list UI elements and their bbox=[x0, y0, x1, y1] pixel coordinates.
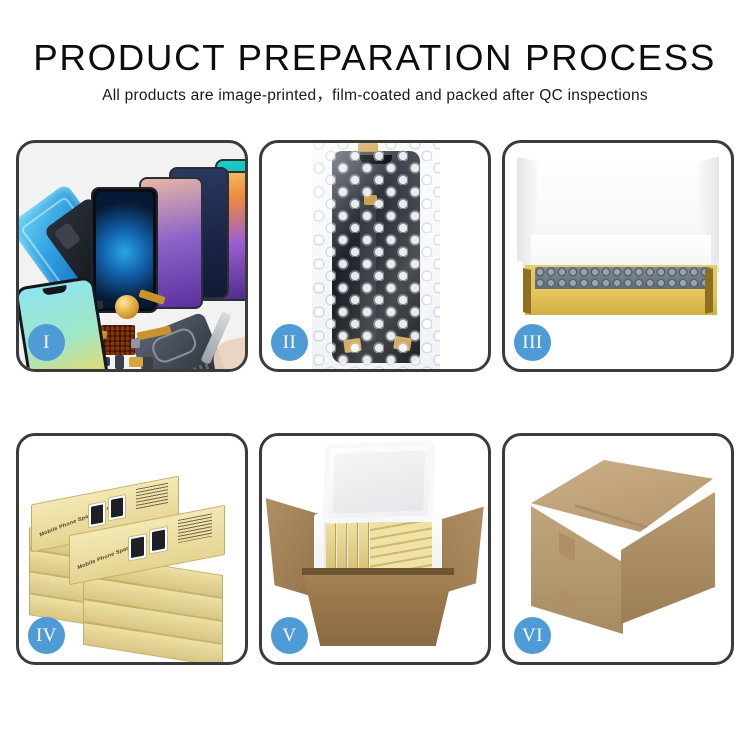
yellow-box-upright-1 bbox=[326, 522, 336, 574]
process-step-3[interactable]: III bbox=[502, 140, 734, 372]
step-3-frame: III bbox=[502, 140, 734, 372]
step-5-frame: V bbox=[259, 433, 491, 665]
retail-box-window-front-2 bbox=[149, 526, 168, 555]
carton-rim bbox=[302, 568, 454, 575]
process-step-grid: I II bbox=[16, 140, 734, 696]
header: PRODUCT PREPARATION PROCESS All products… bbox=[0, 0, 750, 118]
step-badge-6: VI bbox=[514, 617, 551, 654]
step-badge-2: II bbox=[271, 324, 308, 361]
carton-front-face bbox=[531, 506, 623, 634]
retail-box-window-front-1 bbox=[128, 533, 147, 562]
small-part-4 bbox=[129, 357, 143, 367]
step-badge-1: I bbox=[28, 324, 65, 361]
styrofoam-lid bbox=[322, 440, 435, 524]
yellow-box-front-panel bbox=[525, 289, 717, 315]
chip-array-part bbox=[101, 325, 135, 355]
process-step-4[interactable]: Mobile Phone Spare Parts Mobile Phone Sp… bbox=[16, 433, 248, 665]
yellow-box-upright-4 bbox=[359, 522, 369, 574]
step-badge-4: IV bbox=[28, 617, 65, 654]
step-1-frame: I bbox=[16, 140, 248, 372]
yellow-box-upright-2 bbox=[337, 522, 347, 574]
yellow-box-upright-3 bbox=[348, 522, 358, 574]
step-4-frame: Mobile Phone Spare Parts Mobile Phone Sp… bbox=[16, 433, 248, 665]
step-badge-5: V bbox=[271, 617, 308, 654]
product-preparation-infographic: PRODUCT PREPARATION PROCESS All products… bbox=[0, 0, 750, 750]
small-part-8 bbox=[143, 357, 153, 369]
small-part-3 bbox=[115, 355, 124, 369]
plastic-sheen-overlay bbox=[312, 143, 440, 369]
process-step-2[interactable]: II bbox=[259, 140, 491, 372]
process-step-1[interactable]: I bbox=[16, 140, 248, 372]
speaker-coil-part bbox=[115, 295, 139, 319]
yellow-boxes-stacked-flat bbox=[370, 522, 432, 574]
step-badge-3: III bbox=[514, 324, 551, 361]
yellow-box-edge-right bbox=[705, 268, 713, 314]
step-6-frame: VI bbox=[502, 433, 734, 665]
page-title: PRODUCT PREPARATION PROCESS bbox=[34, 38, 717, 78]
small-part-7 bbox=[131, 339, 140, 348]
process-step-6[interactable]: VI bbox=[502, 433, 734, 665]
process-step-5[interactable]: V bbox=[259, 433, 491, 665]
shipping-carton-body bbox=[302, 570, 454, 646]
retail-box-window-rear-2 bbox=[108, 494, 126, 521]
page-subtitle: All products are image-printed，film-coat… bbox=[102, 87, 648, 105]
step-2-frame: II bbox=[259, 140, 491, 372]
yellow-box-edge-left bbox=[523, 268, 531, 314]
bubble-wrap-sleeve bbox=[312, 143, 440, 369]
retail-box-window-rear-1 bbox=[88, 501, 106, 528]
